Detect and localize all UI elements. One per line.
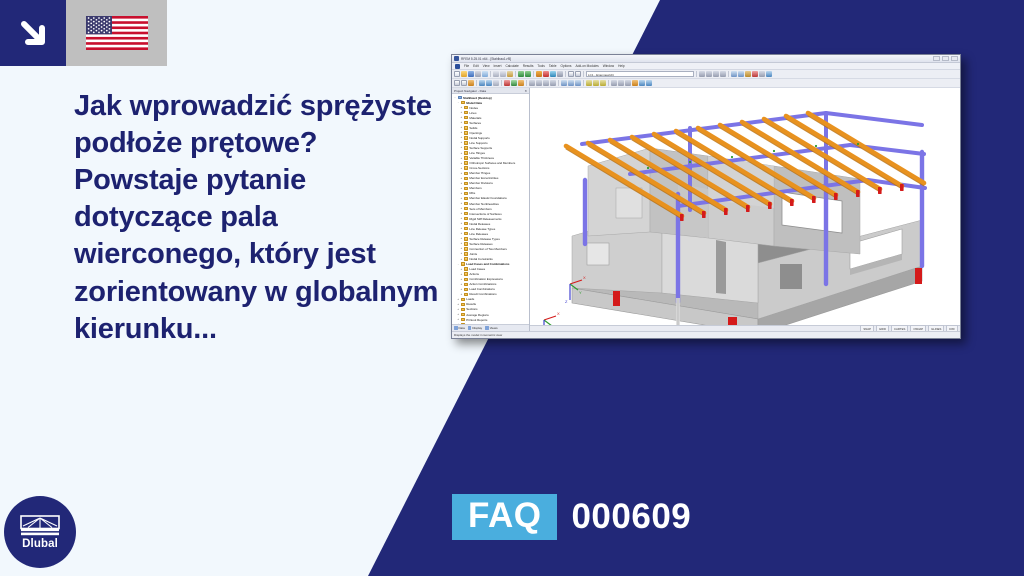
folder-icon bbox=[461, 262, 465, 265]
menu-item-window[interactable]: Window bbox=[603, 64, 614, 68]
folder-icon bbox=[464, 227, 468, 230]
menu-item-addon-modules[interactable]: Add-on Modules bbox=[576, 64, 599, 68]
folder-icon bbox=[464, 146, 468, 149]
tree-item-label: Member Divisions bbox=[469, 181, 492, 185]
tree-item-label: Connection of Two Members bbox=[469, 247, 506, 251]
open-icon[interactable] bbox=[461, 71, 467, 77]
toolbar-separator bbox=[501, 80, 502, 86]
folder-icon bbox=[464, 172, 468, 175]
truss-bridge-icon bbox=[20, 515, 60, 537]
divide-tool-icon[interactable] bbox=[561, 80, 567, 86]
tree-item-label: Combination Expressions bbox=[469, 277, 502, 281]
folder-icon bbox=[464, 106, 468, 109]
window-title: RFEM 5.25.01 x64 - [Stahlbau1.rf5] bbox=[461, 57, 511, 61]
tree-item-label: Ribs bbox=[469, 191, 475, 195]
rfem-app-icon bbox=[454, 56, 459, 61]
folder-icon bbox=[464, 283, 468, 286]
tree-item-label: Openings bbox=[469, 131, 482, 135]
node-tool-icon[interactable] bbox=[454, 80, 460, 86]
folder-icon bbox=[461, 313, 465, 316]
folder-icon bbox=[464, 116, 468, 119]
folder-icon bbox=[464, 293, 468, 296]
toolbar-separator bbox=[565, 71, 566, 77]
grid-icon[interactable] bbox=[575, 71, 581, 77]
wireframe-icon[interactable] bbox=[731, 71, 737, 77]
tree-item-label: Line Hinges bbox=[469, 151, 485, 155]
navigator-tab-display[interactable]: Display bbox=[468, 326, 482, 330]
menu-item-edit[interactable]: Edit bbox=[473, 64, 479, 68]
menu-item-insert[interactable]: Insert bbox=[494, 64, 502, 68]
main-toolbar[interactable]: LC1 - Eigengewicht bbox=[452, 70, 960, 79]
tree-item-label: Surface Supports bbox=[469, 146, 492, 150]
tree-item-label: Lines bbox=[469, 111, 476, 115]
folder-icon bbox=[464, 278, 468, 281]
comment-tool-icon[interactable] bbox=[600, 80, 606, 86]
status-toggles[interactable]: SNAP GRID CARTES OSNAP GLINES DXF bbox=[860, 325, 960, 332]
isometric-view-icon[interactable] bbox=[699, 71, 705, 77]
status-cell-cartes[interactable]: CARTES bbox=[891, 325, 908, 332]
tree-item-label: Load Cases and Combinations bbox=[466, 262, 509, 266]
tree-item-label: Materials bbox=[469, 116, 481, 120]
application-status-bar: Displays the model in isometric view bbox=[452, 331, 960, 338]
rotate-tool-icon[interactable] bbox=[536, 80, 542, 86]
status-cell-dxf[interactable]: DXF bbox=[946, 325, 958, 332]
front-view-icon[interactable] bbox=[706, 71, 712, 77]
tree-item-label: Members bbox=[469, 186, 481, 190]
tree-item-label: Surface Release Types bbox=[469, 237, 499, 241]
navigator-title: Project Navigator - Data bbox=[454, 89, 486, 93]
menu-item-calculate[interactable]: Calculate bbox=[505, 64, 518, 68]
folder-icon bbox=[464, 237, 468, 240]
hinge-tool-icon[interactable] bbox=[511, 80, 517, 86]
viewport-status-bar: SNAP GRID CARTES OSNAP GLINES DXF bbox=[530, 325, 960, 331]
faq-badge: FAQ bbox=[452, 494, 557, 540]
folder-icon bbox=[464, 151, 468, 154]
window-controls[interactable] bbox=[933, 56, 958, 61]
navigator-tree[interactable]: -Stahlbau1 [Desktop]-Model Data+Nodes+Li… bbox=[452, 94, 529, 324]
tree-item-label: Model Data bbox=[466, 101, 482, 105]
tree-item-label: Rigid Stiff Releasements bbox=[469, 217, 501, 221]
rfem-application-window: RFEM 5.25.01 x64 - [Stahlbau1.rf5] File … bbox=[451, 54, 961, 339]
filter-icon[interactable] bbox=[646, 80, 652, 86]
dlubal-wordmark: Dlubal bbox=[22, 538, 58, 550]
tree-item-label: Actions bbox=[469, 272, 479, 276]
svg-text:X: X bbox=[583, 275, 586, 280]
secondary-toolbar[interactable] bbox=[452, 79, 960, 88]
building-model-3d: X Y Z X Y Z bbox=[530, 88, 960, 331]
minimize-button[interactable] bbox=[933, 56, 940, 61]
toolbar-separator bbox=[533, 71, 534, 77]
folder-icon bbox=[461, 308, 465, 311]
toolbar-separator bbox=[476, 80, 477, 86]
folder-icon bbox=[464, 131, 468, 134]
tree-item-label: Line Release Types bbox=[469, 227, 495, 231]
navigator-tabs[interactable]: Data Display Views bbox=[452, 324, 529, 331]
folder-icon bbox=[464, 207, 468, 210]
tree-item-label: Load Cases bbox=[469, 267, 485, 271]
menu-item-file[interactable]: File bbox=[464, 64, 469, 68]
solid-tool-icon[interactable] bbox=[486, 80, 492, 86]
tree-item-label: Surfaces bbox=[469, 121, 481, 125]
tree-item-label: Average Regions bbox=[466, 313, 489, 317]
folder-icon bbox=[464, 222, 468, 225]
svg-text:X: X bbox=[557, 311, 560, 316]
navigator-tab-views[interactable]: Views bbox=[485, 326, 497, 330]
side-view-icon[interactable] bbox=[720, 71, 726, 77]
tree-item-label: Member Eccentricities bbox=[469, 176, 498, 180]
folder-icon bbox=[464, 257, 468, 260]
tree-item-label: Solids bbox=[469, 126, 477, 130]
folder-icon bbox=[464, 111, 468, 114]
svg-text:Y: Y bbox=[579, 290, 582, 295]
info-icon[interactable] bbox=[766, 71, 772, 77]
member-tool-icon[interactable] bbox=[468, 80, 474, 86]
toolbar-separator bbox=[558, 80, 559, 86]
tree-item-label: Sections bbox=[466, 307, 477, 311]
preview-icon[interactable] bbox=[482, 71, 488, 77]
tree-item-label: Line Supports bbox=[469, 141, 487, 145]
status-cell-glines[interactable]: GLINES bbox=[928, 325, 944, 332]
deform-icon[interactable] bbox=[752, 71, 758, 77]
us-flag-icon bbox=[86, 16, 148, 50]
calculate-icon[interactable] bbox=[536, 71, 542, 77]
redo-icon[interactable] bbox=[525, 71, 531, 77]
tree-item-label: Printout Reports bbox=[466, 318, 487, 322]
menu-item-view[interactable]: View bbox=[483, 64, 490, 68]
menu-item-results[interactable]: Results bbox=[523, 64, 534, 68]
folder-icon bbox=[458, 96, 462, 99]
top-view-icon[interactable] bbox=[713, 71, 719, 77]
navigator-close-icon[interactable]: ✕ bbox=[524, 89, 527, 93]
solid-view-icon[interactable] bbox=[738, 71, 744, 77]
folder-icon bbox=[464, 182, 468, 185]
toolbar-separator bbox=[728, 71, 729, 77]
arrow-badge bbox=[0, 0, 66, 66]
menu-bar[interactable]: File Edit View Insert Calculate Results … bbox=[452, 63, 960, 70]
array-tool-icon[interactable] bbox=[550, 80, 556, 86]
dimension-tool-icon[interactable] bbox=[593, 80, 599, 86]
paste-icon[interactable] bbox=[507, 71, 513, 77]
tree-item-label: Line Releases bbox=[469, 232, 488, 236]
display-tab-icon bbox=[468, 326, 472, 330]
faq-number: 000609 bbox=[571, 497, 691, 537]
folder-icon bbox=[464, 242, 468, 245]
tree-item-label: Results bbox=[466, 302, 476, 306]
print-icon[interactable] bbox=[475, 71, 481, 77]
line-tool-icon[interactable] bbox=[461, 80, 467, 86]
document-icon bbox=[455, 64, 460, 69]
tree-item-label: Cross-Sections bbox=[469, 166, 489, 170]
menu-item-tools[interactable]: Tools bbox=[537, 64, 544, 68]
grid-toggle-icon[interactable] bbox=[618, 80, 624, 86]
zoom-icon[interactable] bbox=[557, 71, 563, 77]
folder-icon bbox=[464, 202, 468, 205]
toolbar-separator bbox=[526, 80, 527, 86]
model-viewport[interactable]: X Y Z X Y Z SNAP GRID CARTE bbox=[530, 88, 960, 331]
load-tool-icon[interactable] bbox=[518, 80, 524, 86]
toolbar-separator bbox=[696, 71, 697, 77]
tree-item-label: Surface Releases bbox=[469, 242, 492, 246]
navigator-tab-data[interactable]: Data bbox=[454, 326, 465, 330]
status-cell-snap[interactable]: SNAP bbox=[860, 325, 874, 332]
support-tool-icon[interactable] bbox=[504, 80, 510, 86]
folder-icon bbox=[464, 126, 468, 129]
connect-tool-icon[interactable] bbox=[568, 80, 574, 86]
window-body: Project Navigator - Data ✕ -Stahlbau1 [D… bbox=[452, 88, 960, 331]
new-icon[interactable] bbox=[454, 71, 460, 77]
status-cell-grid[interactable]: GRID bbox=[876, 325, 889, 332]
tree-item-label: Result Combinations bbox=[469, 292, 496, 296]
table-icon[interactable] bbox=[568, 71, 574, 77]
tree-item-label: Variable Thickness bbox=[469, 156, 494, 160]
visibility-icon[interactable] bbox=[639, 80, 645, 86]
views-tab-icon bbox=[485, 326, 489, 330]
toolbar-separator bbox=[515, 71, 516, 77]
dlubal-logo[interactable]: Dlubal bbox=[4, 496, 76, 568]
folder-icon bbox=[461, 101, 465, 104]
tree-item-label: Member Nonlinearities bbox=[469, 202, 498, 206]
copy-icon[interactable] bbox=[500, 71, 506, 77]
folder-icon bbox=[464, 161, 468, 164]
folder-icon bbox=[464, 156, 468, 159]
tree-item-label: Action Combinations bbox=[469, 282, 496, 286]
folder-icon bbox=[464, 192, 468, 195]
folder-icon bbox=[464, 121, 468, 124]
surface-tool-icon[interactable] bbox=[479, 80, 485, 86]
opening-tool-icon[interactable] bbox=[493, 80, 499, 86]
menu-item-help[interactable]: Help bbox=[618, 64, 625, 68]
folder-icon bbox=[464, 212, 468, 215]
folder-icon bbox=[461, 298, 465, 301]
tree-item-label: Member Hinges bbox=[469, 171, 490, 175]
trim-tool-icon[interactable] bbox=[575, 80, 581, 86]
folder-icon bbox=[464, 187, 468, 190]
menu-item-options[interactable]: Options bbox=[561, 64, 572, 68]
folder-icon bbox=[464, 177, 468, 180]
page-title: Jak wprowadzić sprężyste podłoże prętowe… bbox=[74, 88, 444, 348]
toolbar-separator bbox=[583, 71, 584, 77]
tree-item-label: Nodal Releases bbox=[469, 222, 490, 226]
save-icon[interactable] bbox=[468, 71, 474, 77]
folder-icon bbox=[464, 166, 468, 169]
tree-item-label: Member Elastic Foundations bbox=[469, 196, 506, 200]
faq-footer: FAQ 000609 bbox=[452, 494, 691, 540]
tree-item-label: Nodal Supports bbox=[469, 136, 489, 140]
move-tool-icon[interactable] bbox=[529, 80, 535, 86]
tree-item-label: Nodal Constraints bbox=[469, 257, 492, 261]
cut-icon[interactable] bbox=[493, 71, 499, 77]
folder-icon bbox=[464, 247, 468, 250]
ortho-toggle-icon[interactable] bbox=[625, 80, 631, 86]
tree-item-label: Joints bbox=[469, 252, 477, 256]
folder-icon bbox=[461, 318, 465, 321]
top-badge-bar bbox=[0, 0, 167, 66]
toolbar-separator bbox=[490, 71, 491, 77]
language-flag-badge[interactable] bbox=[66, 0, 167, 66]
render-icon[interactable] bbox=[550, 71, 556, 77]
results-icon[interactable] bbox=[543, 71, 549, 77]
arrow-down-right-icon bbox=[16, 16, 50, 50]
folder-icon bbox=[464, 288, 468, 291]
folder-icon bbox=[464, 267, 468, 270]
tree-item-label: Intersections of Surfaces bbox=[469, 212, 501, 216]
tree-item-label: Sets of Members bbox=[469, 207, 491, 211]
mirror-tool-icon[interactable] bbox=[543, 80, 549, 86]
folder-icon bbox=[464, 252, 468, 255]
data-tab-icon bbox=[454, 326, 458, 330]
snap-toggle-icon[interactable] bbox=[611, 80, 617, 86]
undo-icon[interactable] bbox=[518, 71, 524, 77]
folder-icon bbox=[461, 303, 465, 306]
folder-icon bbox=[464, 141, 468, 144]
window-title-bar: RFEM 5.25.01 x64 - [Stahlbau1.rf5] bbox=[452, 55, 960, 63]
folder-icon bbox=[464, 136, 468, 139]
maximize-button[interactable] bbox=[942, 56, 949, 61]
menu-item-table[interactable]: Table bbox=[549, 64, 557, 68]
folder-icon bbox=[464, 232, 468, 235]
tree-item-label: Orthotropic Surfaces and Members bbox=[469, 161, 515, 165]
tree-item-label: Nodes bbox=[469, 106, 478, 110]
load-case-select[interactable]: LC1 - Eigengewicht bbox=[586, 71, 694, 77]
tree-item-label: Load Combinations bbox=[469, 287, 494, 291]
tree-item-label: Stahlbau1 [Desktop] bbox=[463, 96, 492, 100]
tree-item-label: Loads bbox=[466, 297, 474, 301]
svg-text:Z: Z bbox=[565, 299, 568, 304]
project-navigator-panel: Project Navigator - Data ✕ -Stahlbau1 [D… bbox=[452, 88, 530, 331]
section-icon[interactable] bbox=[745, 71, 751, 77]
status-cell-osnap[interactable]: OSNAP bbox=[910, 325, 926, 332]
close-button[interactable] bbox=[951, 56, 958, 61]
settings-icon[interactable] bbox=[759, 71, 765, 77]
folder-icon bbox=[464, 217, 468, 220]
layer-icon[interactable] bbox=[632, 80, 638, 86]
toolbar-separator bbox=[583, 80, 584, 86]
folder-icon bbox=[464, 272, 468, 275]
toolbar-separator bbox=[608, 80, 609, 86]
folder-icon bbox=[464, 197, 468, 200]
measure-tool-icon[interactable] bbox=[586, 80, 592, 86]
